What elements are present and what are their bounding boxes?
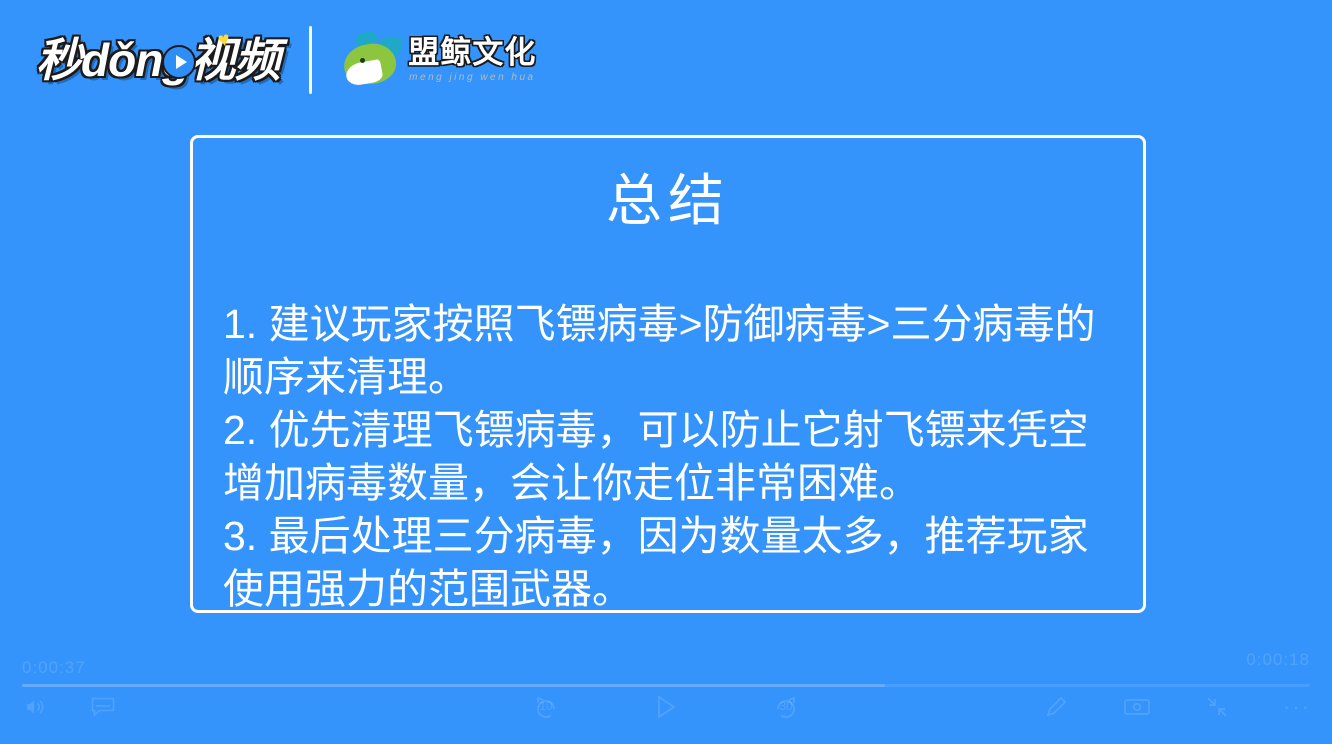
play-circle-icon [162, 45, 196, 79]
player-controls-bar: 0:00:37 0:00:18 [0, 640, 1332, 744]
list-item: 3. 最后处理三分病毒，因为数量太多，推荐玩家使用强力的范围武器。 [223, 510, 1115, 616]
page-title: 总结 [193, 173, 1143, 229]
volume-icon[interactable] [18, 690, 52, 724]
progress-bar[interactable] [22, 684, 1310, 687]
video-frame: 秒dǒng视频 ♥ 盟鲸文化 meng jing wen hua 总结 1. 建… [0, 0, 1332, 744]
screenshot-icon[interactable] [1120, 690, 1154, 724]
secondary-logo-pinyin: meng jing wen hua [408, 72, 536, 83]
heart-icon: ♥ [216, 29, 231, 51]
danmaku-icon[interactable] [86, 690, 120, 724]
more-options-button[interactable]: ··· [1280, 690, 1314, 724]
progress-fill [22, 684, 885, 687]
exit-fullscreen-icon[interactable] [1200, 690, 1234, 724]
primary-logo-text: 秒dǒng视频 [36, 37, 279, 83]
forward-amount: 30 [769, 699, 803, 713]
branding-bar: 秒dǒng视频 ♥ 盟鲸文化 meng jing wen hua [0, 0, 1332, 120]
elapsed-time: 0:00:37 [22, 658, 86, 678]
list-item: 1. 建议玩家按照飞镖病毒>防御病毒>三分病毒的顺序来清理。 [223, 298, 1115, 404]
play-icon[interactable] [649, 690, 683, 724]
whale-icon [342, 32, 400, 88]
list-item: 2. 优先清理飞镖病毒，可以防止它射飞镖来凭空增加病毒数量，会让你走位非常困难。 [223, 404, 1115, 510]
pencil-icon[interactable] [1040, 690, 1074, 724]
brand-divider [309, 26, 312, 94]
secondary-logo-text: 盟鲸文化 [408, 37, 536, 70]
secondary-logo: 盟鲸文化 meng jing wen hua [342, 27, 536, 93]
primary-logo: 秒dǒng视频 ♥ [36, 29, 279, 91]
rewind-amount: 10 [529, 699, 563, 713]
summary-list: 1. 建议玩家按照飞镖病毒>防御病毒>三分病毒的顺序来清理。 2. 优先清理飞镖… [223, 298, 1115, 616]
rewind-10-icon[interactable]: 10 [529, 690, 563, 724]
forward-30-icon[interactable]: 30 [769, 690, 803, 724]
slide-card: 总结 1. 建议玩家按照飞镖病毒>防御病毒>三分病毒的顺序来清理。 2. 优先清… [190, 135, 1146, 613]
remaining-time: 0:00:18 [1246, 650, 1310, 670]
